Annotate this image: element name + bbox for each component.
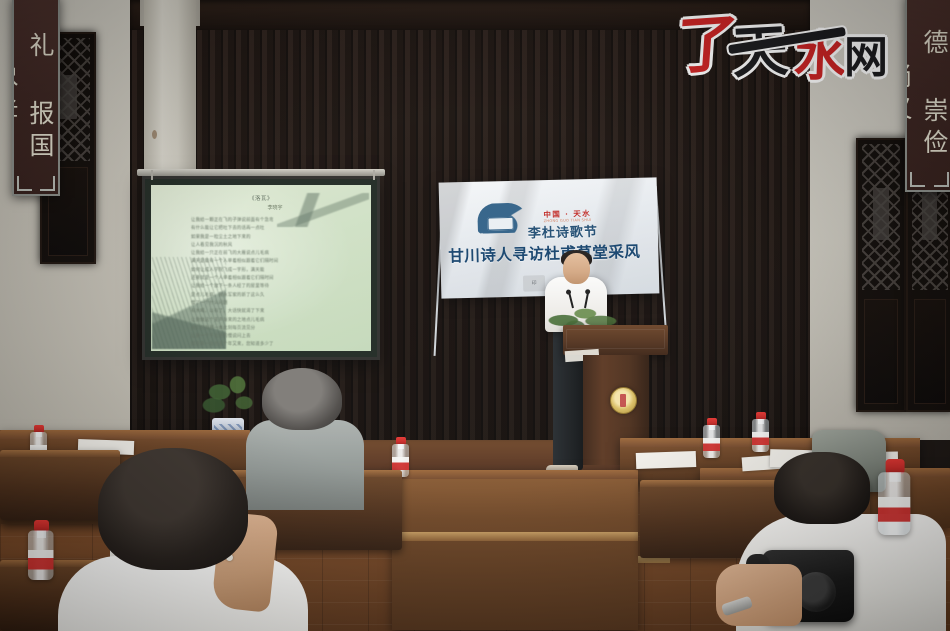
- chair-rail: [0, 450, 120, 457]
- water-bottle: [703, 418, 720, 458]
- slide-poem-line: 让人看见我沉的秋风: [191, 242, 353, 250]
- water-bottle: [752, 412, 769, 452]
- slide-poem-line: 有水喝，以有了，大话快就渴了下来: [191, 308, 353, 316]
- table-ledge: [392, 532, 638, 541]
- audience-head: [774, 452, 870, 524]
- wall-plaque-right: 德 崇俭 尚义: [905, 0, 950, 192]
- bottle-label: [703, 438, 720, 451]
- slide-poem-line: 慢了一个什么问题: [191, 300, 353, 308]
- plaque-corner-icon: [17, 176, 32, 191]
- bottle-label: [28, 550, 54, 570]
- lattice-panel-right-1: [856, 138, 906, 412]
- banner-festival-name: 李杜诗歌节: [528, 221, 598, 242]
- photograph-root: 礼 报国 尽孝 德 崇俭 尚义 《洛瓦》 李晓宇 让我给一颗正在飞的子弹说前面有…: [0, 0, 950, 631]
- bottle-label: [392, 457, 409, 470]
- slide-poem-line: 让我给一个放下一条人经了的屋里等待: [191, 283, 353, 291]
- speaker-head: [563, 253, 590, 284]
- plaque-corner-icon: [910, 172, 925, 187]
- wall-plaque-right-text: 德 崇俭 尚义: [905, 29, 949, 161]
- wall-plaque-left: 礼 报国 尽孝: [12, 0, 60, 196]
- lectern-emblem-icon: [610, 387, 637, 414]
- slide-poem-line: 还要就是一个人单着相似跟着它们隔时间: [191, 275, 353, 283]
- water-bottle: [28, 520, 54, 580]
- banner-main-slogan: 甘川诗人寻访杜甫草堂采风: [448, 240, 640, 267]
- audience-head: [98, 448, 248, 570]
- slide-poem-line: 让我做这个支声渐来的之地点儿毛病: [191, 317, 353, 325]
- audience-arm: [716, 564, 802, 626]
- slide-poem-line: 是点儿毛病，我永军家的新了这么久: [191, 292, 353, 300]
- table-surface: [392, 470, 638, 479]
- screen-top-bar: [137, 169, 385, 176]
- table-front-center: [392, 470, 638, 630]
- slide-poem-line: 让我给一只正在前飞的大雁说点儿毛病: [191, 250, 353, 258]
- wall-plaque-left-text: 礼 报国 尽孝: [12, 32, 55, 164]
- plaque-corner-icon: [40, 176, 55, 191]
- slide-poem-line: 有什么能让它把吐下去的话再一点吐: [191, 225, 353, 233]
- slide-surface: 《洛瓦》 李晓宇 让我给一颗正在飞的子弹说前面有个急弯有什么能让它把吐下去的话再…: [151, 185, 371, 351]
- slide-poem-body: 让我给一颗正在飞的子弹说前面有个急弯有什么能让它把吐下去的话再一点吐如果我是一粒…: [191, 217, 353, 350]
- watermark-char-4: 网: [844, 36, 888, 80]
- slide-poem-line: 我们只有那一本此刻每页流见分: [191, 325, 353, 333]
- lattice-grille: [862, 144, 900, 290]
- festival-logo-icon: [477, 202, 530, 233]
- audience-head: [262, 368, 342, 430]
- screen-strut: [373, 170, 375, 180]
- banner-seal: 印: [523, 275, 545, 292]
- tianshui-net-watermark: 了 天 水 网: [676, 10, 882, 88]
- slide-title: 《洛瓦》: [151, 194, 371, 202]
- slide-poem-line: 让我给一颗正在飞的子弹说前面有个急弯: [191, 217, 353, 225]
- screen-strut: [151, 170, 153, 180]
- paper-sheet: [636, 451, 697, 469]
- slide-poem-line: 如果我是一粒尘土之地下来的: [191, 234, 353, 242]
- audience-torso: [246, 420, 364, 510]
- bottle-label: [752, 432, 769, 445]
- lattice-lower-panel: [914, 299, 946, 404]
- slide-author: 李晓宇: [151, 204, 371, 211]
- slide-poem-line: 就在那一处也这个年又来，您知道多少了: [191, 341, 353, 349]
- slide-poem-line: 如何让成人学院飞成一字形，满天能: [191, 267, 353, 275]
- slide-poem-line: 满天是能有一个人单着相似跟着它们隔时间: [191, 258, 353, 266]
- water-bottle-held: [878, 459, 910, 535]
- plaque-corner-icon: [934, 172, 949, 187]
- projection-screen: 《洛瓦》 李晓宇 让我给一颗正在飞的子弹说前面有个急弯有什么能让它把吐下去的话再…: [142, 176, 380, 360]
- bottle-label: [878, 497, 910, 522]
- lattice-lower-panel: [864, 299, 898, 404]
- slide-poem-line: 让我一个千言语的慢说问上去: [191, 333, 353, 341]
